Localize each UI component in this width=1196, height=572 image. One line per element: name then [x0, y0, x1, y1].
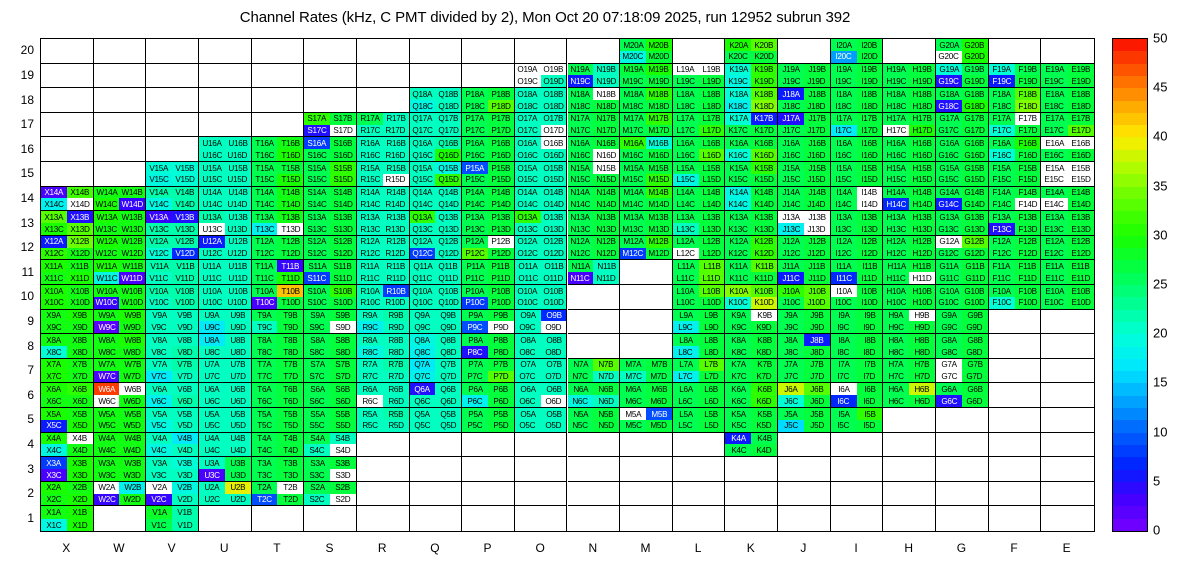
palette-band — [1113, 407, 1147, 420]
palette-band — [1113, 186, 1147, 199]
palette-band — [1113, 248, 1147, 261]
palette-band — [1113, 125, 1147, 138]
palette-band — [1113, 309, 1147, 322]
color-scale-bar — [1112, 38, 1148, 532]
y-axis-label-4: 4 — [6, 437, 34, 451]
palette-band — [1113, 371, 1147, 384]
y-axis-label-1: 1 — [6, 511, 34, 525]
palette-band — [1113, 112, 1147, 125]
palette-band — [1113, 420, 1147, 433]
palette-band — [1113, 149, 1147, 162]
palette-band — [1113, 272, 1147, 285]
palette-tick-label-30: 30 — [1153, 227, 1167, 242]
x-axis-label-G: G — [941, 541, 981, 555]
y-axis-label-11: 11 — [6, 265, 34, 279]
x-axis-label-X: X — [46, 541, 86, 555]
palette-band — [1113, 506, 1147, 519]
palette-tick-label-15: 15 — [1153, 375, 1167, 390]
palette-band — [1113, 284, 1147, 297]
x-axis-label-L: L — [678, 541, 718, 555]
palette-band — [1113, 51, 1147, 64]
x-axis-label-W: W — [99, 541, 139, 555]
y-axis-label-5: 5 — [6, 412, 34, 426]
palette-band — [1113, 297, 1147, 310]
palette-tick-label-50: 50 — [1153, 31, 1167, 46]
palette-band — [1113, 161, 1147, 174]
palette-tick-label-10: 10 — [1153, 424, 1167, 439]
palette-band — [1113, 444, 1147, 457]
palette-band — [1113, 395, 1147, 408]
palette-band — [1113, 100, 1147, 113]
palette-band — [1113, 481, 1147, 494]
y-axis-label-13: 13 — [6, 216, 34, 230]
palette-band — [1113, 211, 1147, 224]
y-axis-label-16: 16 — [6, 142, 34, 156]
y-axis-label-8: 8 — [6, 339, 34, 353]
y-axis-label-14: 14 — [6, 191, 34, 205]
x-axis-label-N: N — [573, 541, 613, 555]
palette-band — [1113, 518, 1147, 531]
palette-tick-label-35: 35 — [1153, 178, 1167, 193]
palette-band — [1113, 494, 1147, 507]
palette-band — [1113, 198, 1147, 211]
x-axis-label-K: K — [731, 541, 771, 555]
x-axis-label-R: R — [362, 541, 402, 555]
palette-band — [1113, 223, 1147, 236]
palette-band — [1113, 358, 1147, 371]
y-axis-label-12: 12 — [6, 240, 34, 254]
palette-tick-label-0: 0 — [1153, 523, 1160, 538]
y-axis-label-10: 10 — [6, 289, 34, 303]
palette-band — [1113, 457, 1147, 470]
palette-band — [1113, 469, 1147, 482]
y-axis-label-15: 15 — [6, 166, 34, 180]
palette-band — [1113, 174, 1147, 187]
x-axis-label-V: V — [152, 541, 192, 555]
x-axis-label-S: S — [310, 541, 350, 555]
palette-band — [1113, 346, 1147, 359]
palette-tick-label-5: 5 — [1153, 473, 1160, 488]
x-axis-label-I: I — [836, 541, 876, 555]
x-axis-label-T: T — [257, 541, 297, 555]
palette-band — [1113, 75, 1147, 88]
palette-band — [1113, 321, 1147, 334]
y-axis-label-6: 6 — [6, 388, 34, 402]
palette-band — [1113, 137, 1147, 150]
palette-tick-label-40: 40 — [1153, 129, 1167, 144]
x-axis-label-E: E — [1047, 541, 1087, 555]
palette-band — [1113, 63, 1147, 76]
axis-layer: 2019181716151413121110987654321XWVUTSRQP… — [0, 0, 1196, 572]
palette-band — [1113, 235, 1147, 248]
y-axis-label-9: 9 — [6, 314, 34, 328]
x-axis-label-H: H — [889, 541, 929, 555]
x-axis-label-J: J — [783, 541, 823, 555]
x-axis-label-U: U — [204, 541, 244, 555]
y-axis-label-19: 19 — [6, 68, 34, 82]
y-axis-label-2: 2 — [6, 486, 34, 500]
y-axis-label-17: 17 — [6, 117, 34, 131]
y-axis-label-20: 20 — [6, 43, 34, 57]
palette-band — [1113, 88, 1147, 101]
y-axis-label-3: 3 — [6, 462, 34, 476]
palette-band — [1113, 334, 1147, 347]
x-axis-label-F: F — [994, 541, 1034, 555]
x-axis-label-P: P — [468, 541, 508, 555]
y-axis-label-7: 7 — [6, 363, 34, 377]
palette-band — [1113, 432, 1147, 445]
palette-band — [1113, 383, 1147, 396]
x-axis-label-M: M — [625, 541, 665, 555]
x-axis-label-Q: Q — [415, 541, 455, 555]
palette-band — [1113, 38, 1147, 51]
palette-tick-label-20: 20 — [1153, 326, 1167, 341]
palette-tick-label-25: 25 — [1153, 277, 1167, 292]
channel-rate-map: Channel Rates (kHz, C PMT divided by 2),… — [0, 0, 1196, 572]
x-axis-label-O: O — [520, 541, 560, 555]
y-axis-label-18: 18 — [6, 93, 34, 107]
palette-band — [1113, 260, 1147, 273]
palette-tick-label-45: 45 — [1153, 80, 1167, 95]
